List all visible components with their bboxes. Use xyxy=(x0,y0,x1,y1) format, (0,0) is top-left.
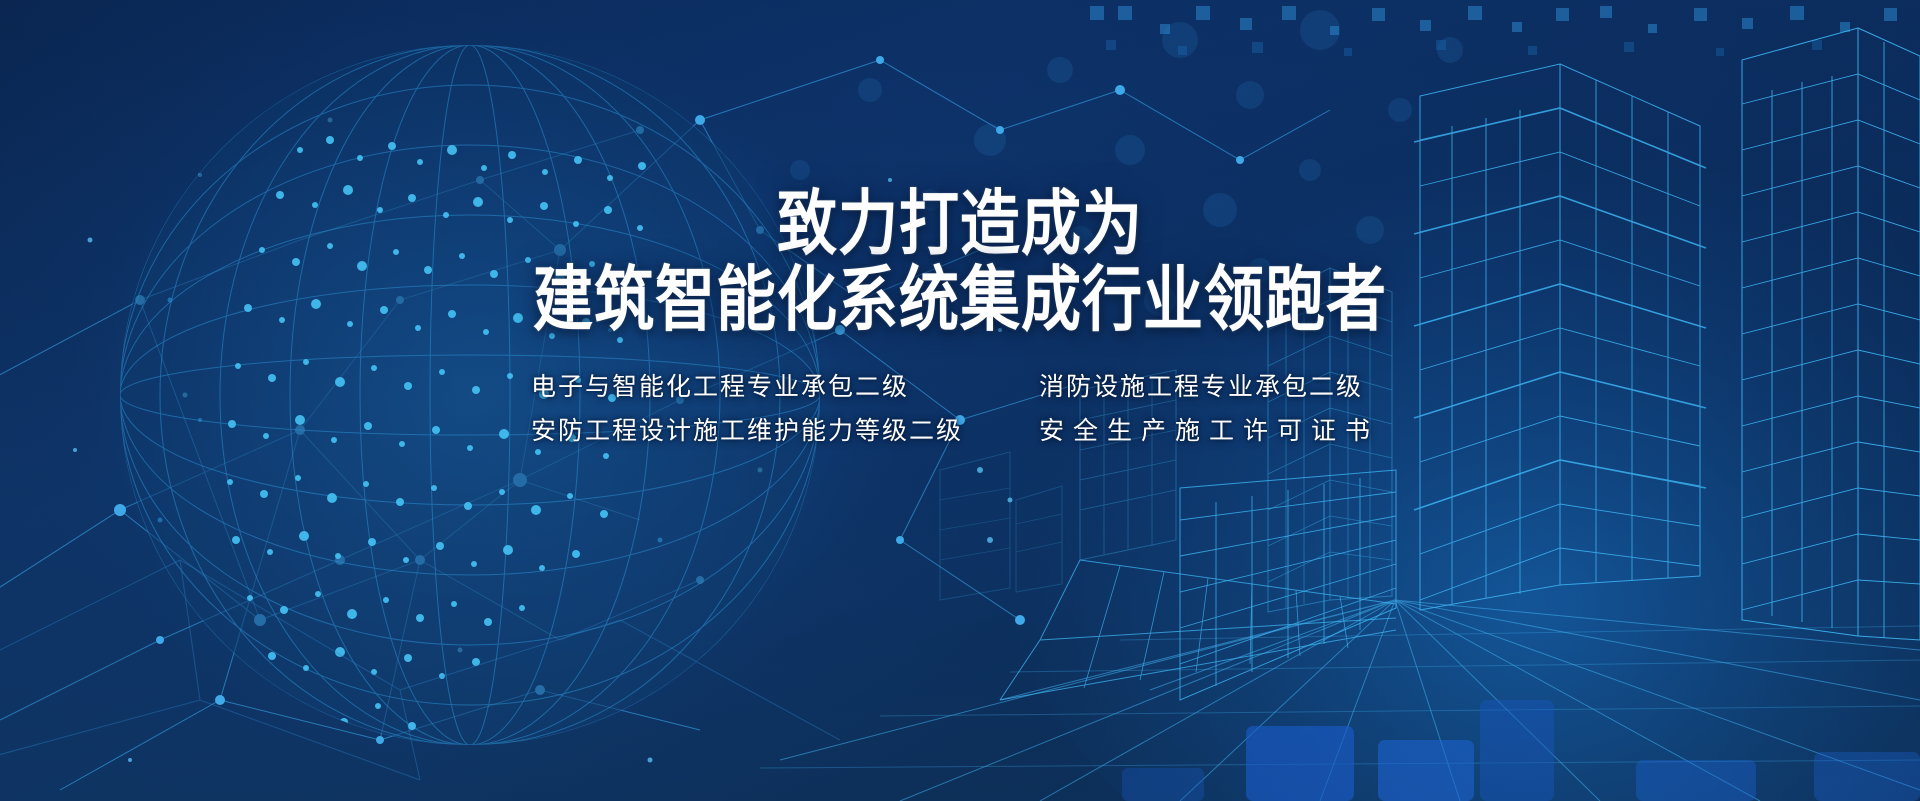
hero-banner: 致力打造成为 建筑智能化系统集成行业领跑者 电子与智能化工程专业承包二级 消防设… xyxy=(0,0,1920,801)
background-graphics-layer xyxy=(0,0,1920,801)
vignette xyxy=(0,0,1920,801)
